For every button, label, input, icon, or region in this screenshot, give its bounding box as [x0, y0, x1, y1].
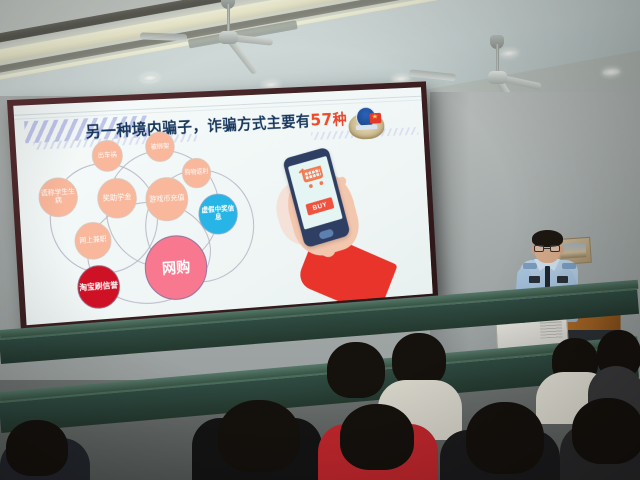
glasses-icon — [534, 245, 561, 252]
epaulette-left — [523, 263, 537, 269]
phone-home-button — [318, 228, 334, 239]
audience-head-6 — [340, 404, 414, 470]
lecture-hall-photo: 另一种境内骗子，诈骗方式主要有57种 出车祸 被绑架 — [0, 0, 640, 480]
audience-head-5 — [218, 400, 300, 472]
bubble-label: 被绑架 — [151, 143, 170, 151]
audience-head-1 — [327, 342, 385, 398]
buy-button[interactable]: BUY — [305, 197, 334, 216]
bubble-label: 奖助学金 — [102, 193, 131, 203]
slide-title-unit: 种 — [332, 111, 347, 129]
projection-screen: 另一种境内骗子，诈骗方式主要有57种 出车祸 被绑架 — [13, 87, 432, 325]
wall-shadow — [430, 92, 470, 372]
chest-badge-left — [529, 276, 540, 283]
chest-badge-right — [557, 276, 568, 283]
bubble-label: 出车祸 — [98, 152, 117, 160]
epaulette-right — [562, 263, 576, 269]
audience-head-2 — [392, 333, 446, 387]
projection-screen-frame: 另一种境内骗子，诈骗方式主要有57种 出车祸 被绑架 — [7, 81, 438, 331]
audience-head-7 — [466, 402, 544, 474]
bubble-label: 谎称学生生病 — [39, 189, 77, 206]
bubble-label: 淘宝刷信誉 — [79, 281, 118, 292]
shopping-cart-icon — [299, 165, 328, 192]
bubble-label: 虚假中奖信息 — [199, 206, 237, 223]
audience-head-9 — [6, 420, 68, 476]
slide-title-number: 57 — [310, 110, 333, 130]
hand-holding-phone-illustration: BUY — [270, 143, 413, 294]
bubble-label: 网上兼职 — [79, 236, 107, 245]
bubble-label: 网购 — [162, 259, 191, 277]
bubble-label: 购物返利 — [185, 169, 209, 177]
chinese-police-badge-icon — [347, 104, 385, 144]
audience-head-8 — [572, 398, 640, 464]
bubble-label: 游戏币充值 — [149, 194, 185, 204]
presentation-slide: 另一种境内骗子，诈骗方式主要有57种 出车祸 被绑架 — [13, 87, 432, 325]
